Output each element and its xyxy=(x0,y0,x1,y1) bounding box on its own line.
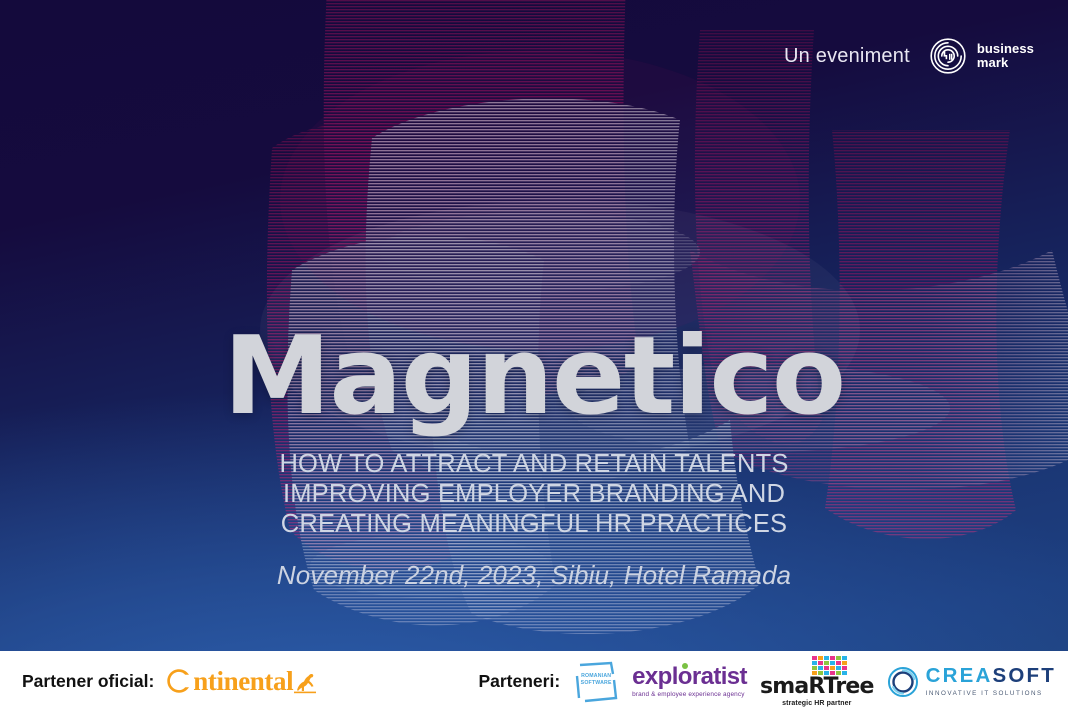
continental-c-icon xyxy=(166,668,192,695)
official-partner-group: Partener oficial: ntinental xyxy=(22,668,316,695)
continental-horse-icon xyxy=(294,671,316,695)
creasoft-text-block: CREASOFT INNOVATIVE IT SOLUTIONS xyxy=(926,666,1056,697)
header-brand-area: Un eveniment busine xyxy=(784,36,1034,76)
official-partner-label: Partener oficial: xyxy=(22,671,154,692)
exploratist-word-part-2: ratist xyxy=(692,663,747,690)
event-date-location: November 22nd, 2023, Sibiu, Hotel Ramada xyxy=(0,560,1068,591)
smartree-logo[interactable]: smaRTree strategic HR partner xyxy=(760,656,874,707)
partners-group: Parteneri: ROMANIAN SOFTWARE xyxy=(478,656,1056,707)
smartree-wordmark: smaRTree xyxy=(760,676,874,698)
exploratist-logo[interactable]: exploratist brand & employee experience … xyxy=(632,665,747,698)
creasoft-logo[interactable]: CREASOFT INNOVATIVE IT SOLUTIONS xyxy=(887,666,1056,698)
creasoft-word-part-2: SOFT xyxy=(993,664,1056,687)
smartree-tagline: strategic HR partner xyxy=(782,700,851,707)
partner-bar: Partener oficial: ntinental Parteneri: xyxy=(0,651,1068,712)
event-title: Magnetico xyxy=(0,325,1068,429)
romanian-software-wordmark: ROMANIAN SOFTWARE xyxy=(573,673,619,688)
romsoft-line-2: SOFTWARE xyxy=(573,680,619,688)
brand-line-2: mark xyxy=(977,56,1034,70)
exploratist-word-part-1: expl xyxy=(632,663,678,690)
partners-label: Parteneri: xyxy=(478,671,560,692)
business-mark-logo[interactable]: business mark xyxy=(928,36,1034,76)
creasoft-wordmark: CREASOFT xyxy=(926,666,1056,687)
subtitle-line-3: CREATING MEANINGFUL HR PRACTICES xyxy=(0,509,1068,539)
business-mark-wordmark: business mark xyxy=(977,42,1034,70)
fingerprint-icon xyxy=(928,36,968,76)
continental-logo[interactable]: ntinental xyxy=(166,668,316,695)
subtitle-line-2: IMPROVING EMPLOYER BRANDING AND xyxy=(0,479,1068,509)
hero-title-block: Magnetico HOW TO ATTRACT AND RETAIN TALE… xyxy=(0,325,1068,591)
exploratist-wordmark: exploratist xyxy=(632,665,747,689)
event-poster: Un eveniment busine xyxy=(0,0,1068,712)
exploratist-letter-o: o xyxy=(678,665,692,689)
exploratist-green-dot-icon xyxy=(682,663,688,669)
creasoft-tagline: INNOVATIVE IT SOLUTIONS xyxy=(926,690,1056,697)
subtitle-line-1: HOW TO ATTRACT AND RETAIN TALENTS xyxy=(0,449,1068,479)
creasoft-word-part-1: CREA xyxy=(926,664,993,687)
romsoft-line-1: ROMANIAN xyxy=(573,673,619,681)
continental-wordmark: ntinental xyxy=(193,668,293,695)
event-by-label: Un eveniment xyxy=(784,45,910,68)
exploratist-tagline: brand & employee experience agency xyxy=(632,691,744,698)
creasoft-swirl-icon xyxy=(887,666,919,698)
smartree-pixel-grid-icon xyxy=(812,656,847,675)
event-subtitle: HOW TO ATTRACT AND RETAIN TALENTS IMPROV… xyxy=(0,449,1068,539)
brand-line-1: business xyxy=(977,42,1034,56)
romanian-software-logo[interactable]: ROMANIAN SOFTWARE xyxy=(573,660,619,704)
